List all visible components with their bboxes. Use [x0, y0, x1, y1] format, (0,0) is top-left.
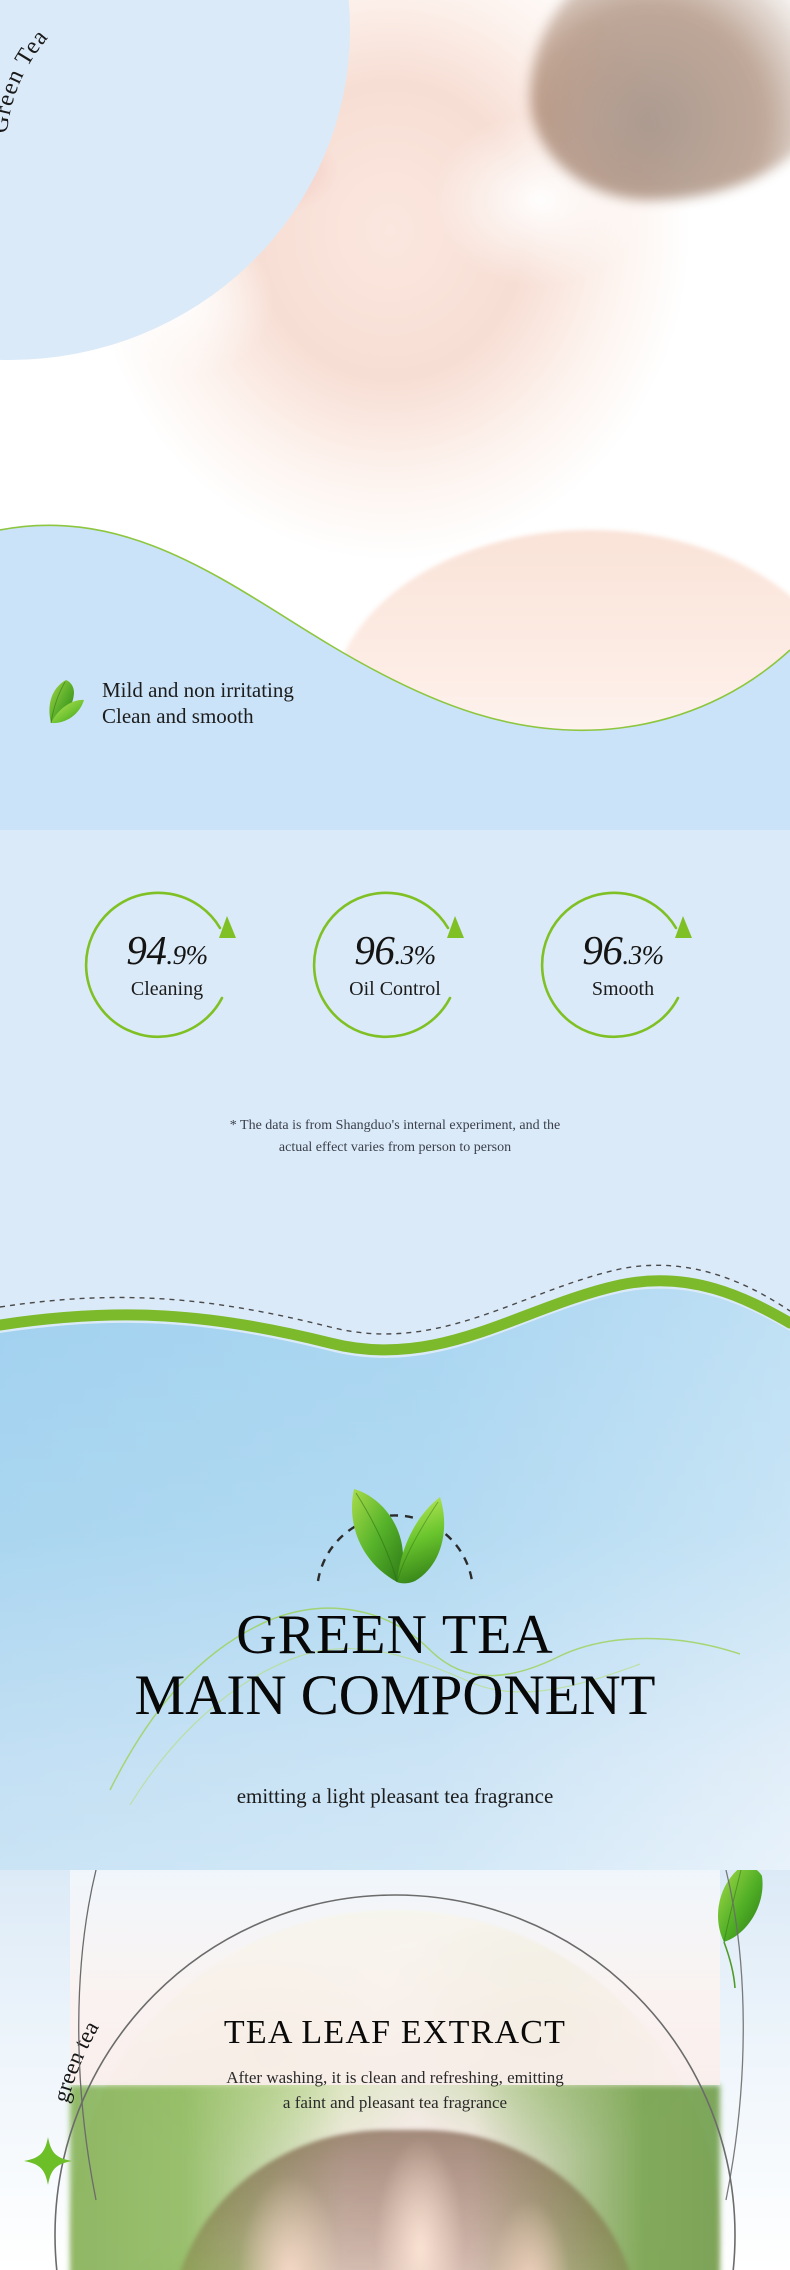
hero-photo-hair [530, 0, 790, 200]
extract-title: TEA LEAF EXTRACT [0, 2014, 790, 2052]
sparkle-icon [22, 2135, 74, 2187]
stat-oil-control: 96.3% Oil Control [310, 880, 480, 1050]
stat-label: Oil Control [349, 978, 441, 1001]
benefit-line-1: Mild and non irritating [102, 677, 294, 703]
leaf-icon [708, 1870, 778, 1990]
tea-leaves-icon [352, 1489, 444, 1583]
stat-value: 96.3% [582, 930, 663, 971]
component-headline: GREEN TEA MAIN COMPONENT [0, 1605, 790, 1727]
stat-label: Smooth [592, 978, 654, 1001]
stat-smooth: 96.3% Smooth [538, 880, 708, 1050]
stat-value: 96.3% [354, 930, 435, 971]
component-subhead: emitting a light pleasant tea fragrance [0, 1784, 790, 1809]
extract-section: green tea TEA LEAF EXTRACT After washing… [0, 1870, 790, 2270]
extract-description: After washing, it is clean and refreshin… [0, 2066, 790, 2115]
leaf-icon [46, 676, 88, 730]
headline-line-1: GREEN TEA [236, 1604, 554, 1666]
stats-row: 94.9% Cleaning 96.3% Oil Control 96.3% S… [0, 880, 790, 1050]
disclaimer-line-1: * The data is from Shangduo's internal e… [0, 1115, 790, 1137]
product-landing-page: Green Tea Mild and n [0, 0, 790, 2270]
stat-label: Cleaning [131, 978, 203, 1001]
extract-desc-line-1: After washing, it is clean and refreshin… [0, 2066, 790, 2091]
benefit-text: Mild and non irritating Clean and smooth [102, 677, 294, 730]
stat-value: 94.9% [126, 930, 207, 971]
hero-wave-mask [0, 410, 790, 830]
stat-cleaning: 94.9% Cleaning [82, 880, 252, 1050]
extract-desc-line-2: a faint and pleasant tea fragrance [0, 2091, 790, 2116]
benefit-line-2: Clean and smooth [102, 703, 294, 729]
benefit-block: Mild and non irritating Clean and smooth [46, 676, 294, 730]
stats-disclaimer: * The data is from Shangduo's internal e… [0, 1115, 790, 1158]
disclaimer-line-2: actual effect varies from person to pers… [0, 1137, 790, 1159]
headline-line-2: MAIN COMPONENT [0, 1665, 790, 1727]
tea-leaves-badge [0, 1455, 790, 1605]
